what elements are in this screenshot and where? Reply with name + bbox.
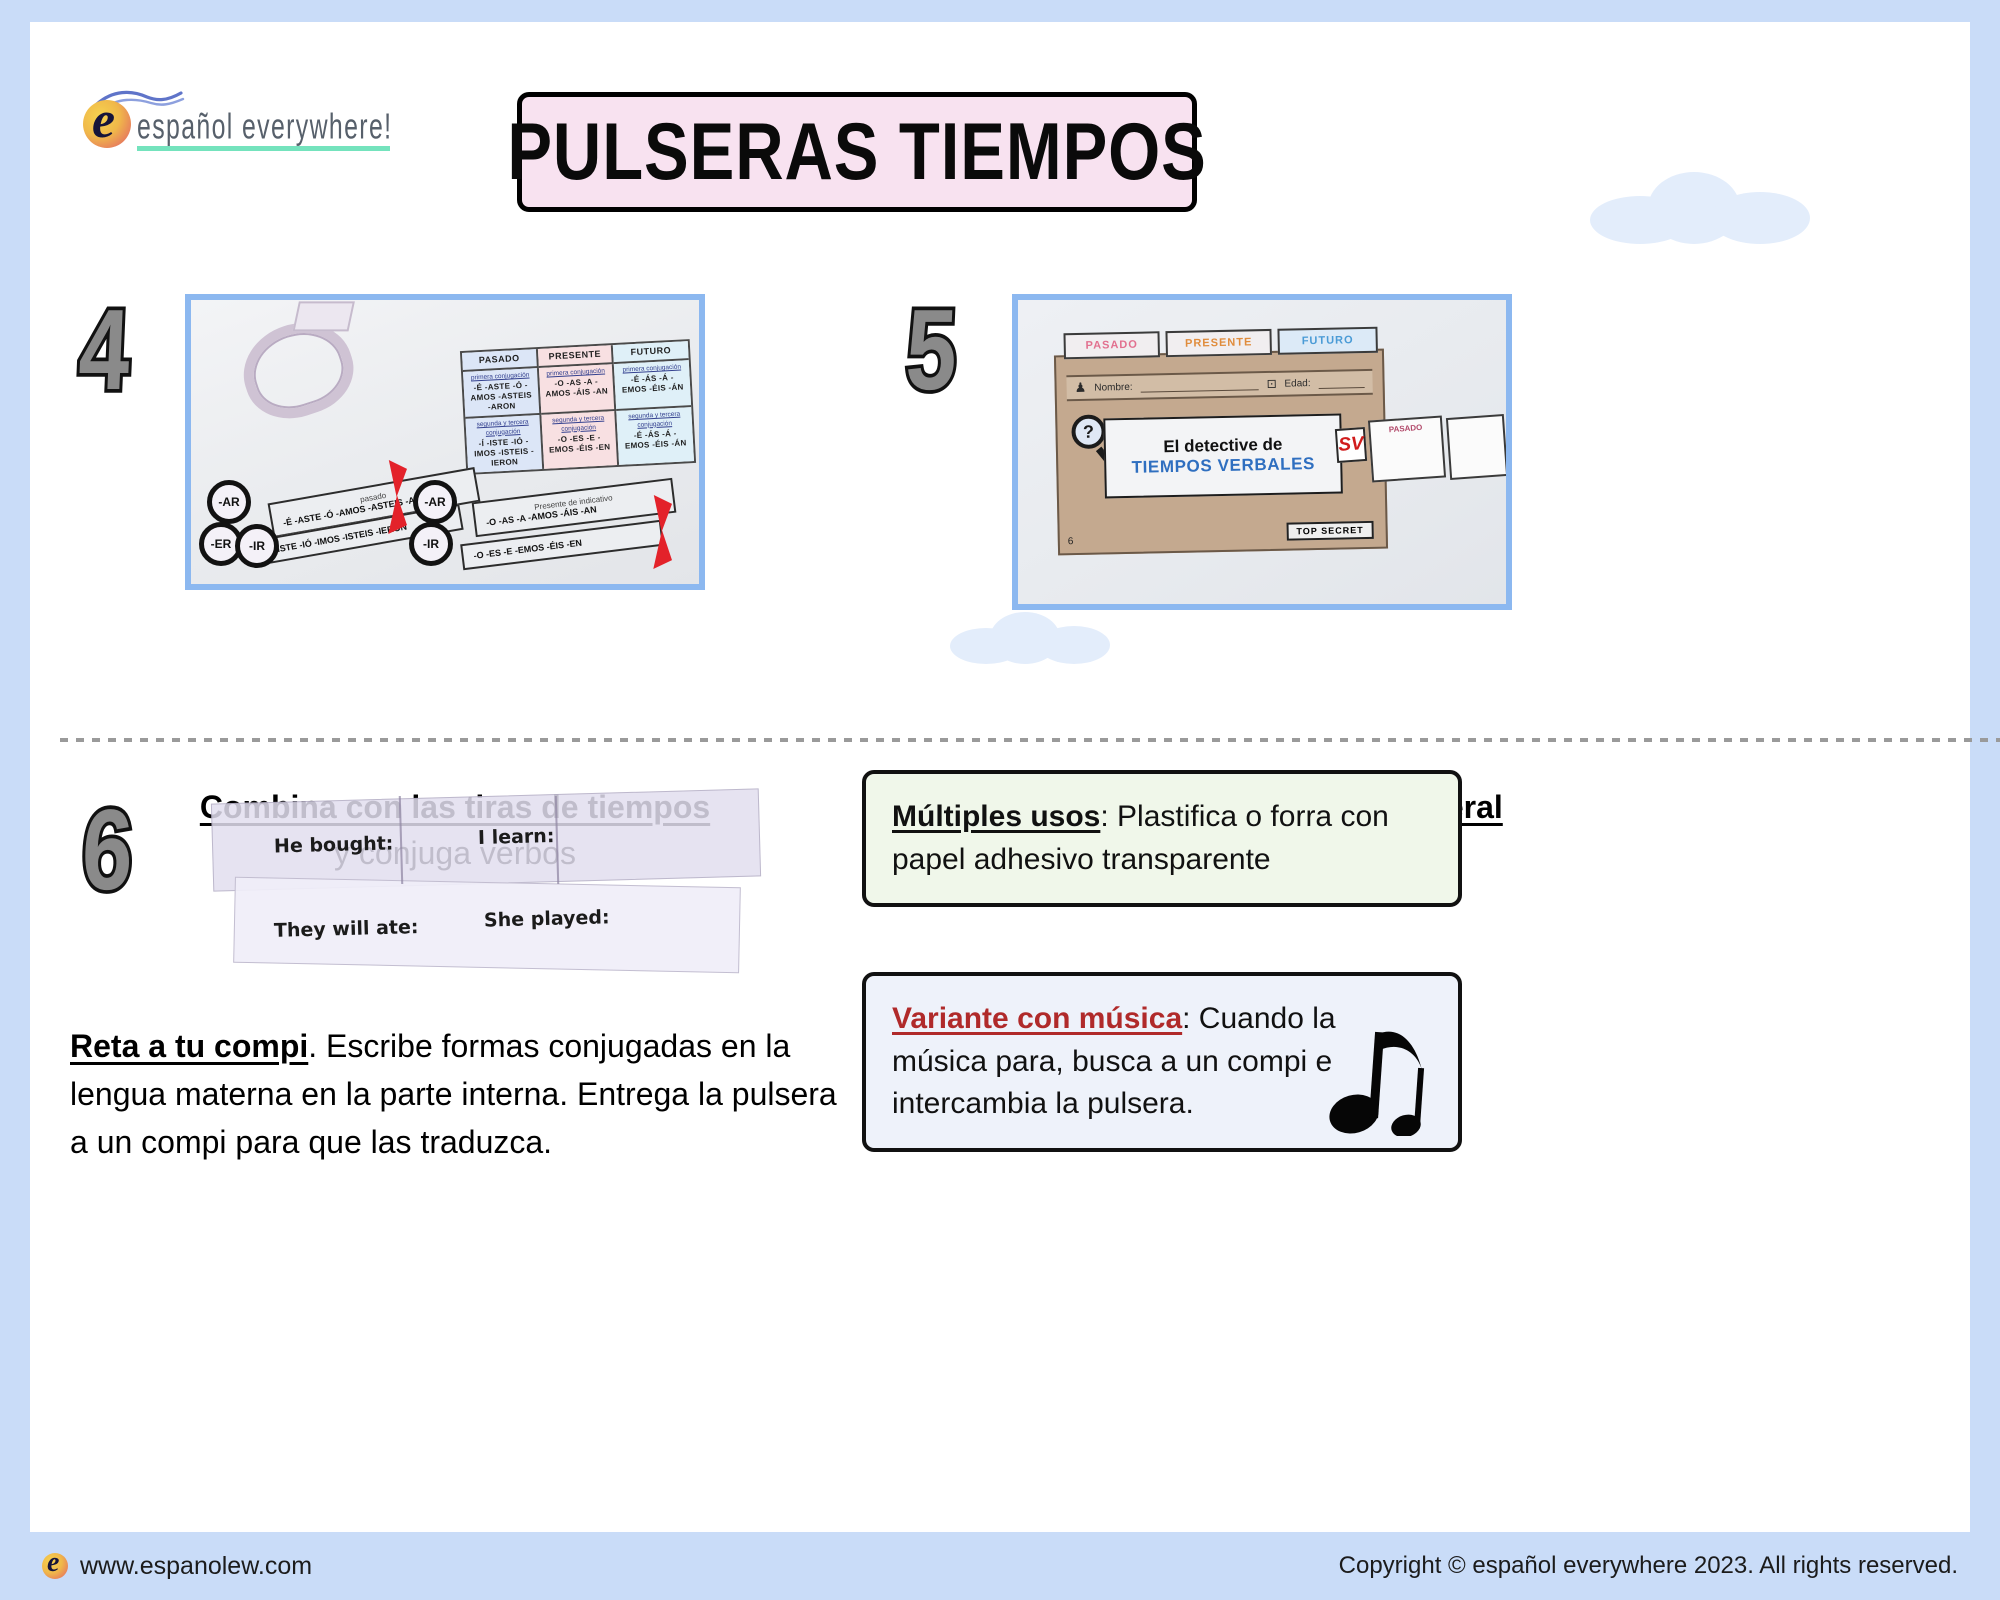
detective-card: El detective de TIEMPOS VERBALES <box>1103 413 1343 498</box>
ending-knob-ar-1: -AR <box>207 480 251 524</box>
chart-cell-pasado-2: -Í -ISTE -IÓ -IMOS -ISTEIS -IERON <box>471 436 538 469</box>
worksheet-page: español everywhere! PULSERAS TIEMPOS 4 <box>0 0 2000 1600</box>
chart-row-label-2a: segunda y tercera conjugación <box>476 419 528 437</box>
callout-variante-musica: Variante con música: Cuando la música pa… <box>862 972 1462 1152</box>
page-title-box: PULSERAS TIEMPOS <box>517 92 1197 212</box>
callout-1-highlight: Múltiples usos <box>892 800 1100 833</box>
step-6-paragraph: Reta a tu compi. Escribe formas conjugad… <box>70 1022 860 1166</box>
ending-knob-ir-2: -IR <box>409 522 453 566</box>
prompt-she-played: She played: <box>484 906 610 931</box>
step-6-paragraph-bold: Reta a tu compi <box>70 1028 308 1064</box>
sv-badge: SV <box>1335 427 1367 463</box>
top-secret-stamp: TOP SECRET <box>1286 521 1374 541</box>
side-strip-extra <box>1446 414 1508 480</box>
cloud-decoration-2 <box>950 612 1110 664</box>
folder-name-row: ♟ Nombre: ⚀ Edad: <box>1066 369 1372 401</box>
chart-cell-presente-1: -O -AS -A -AMOS -ÁIS -AN <box>543 376 610 399</box>
conjugation-chart: PASADO PRESENTE FUTURO primera conjugaci… <box>460 339 696 474</box>
callout-2-highlight: Variante con música <box>892 1002 1182 1035</box>
step-number-6: 6 <box>80 793 135 907</box>
chart-cell-pasado-1: -É -ASTE -Ó -AMOS -ASTEIS -ARON <box>468 380 535 413</box>
step-4-photo: PASADO PRESENTE FUTURO primera conjugaci… <box>185 294 705 590</box>
magnifier-question-icon: ? <box>1071 414 1106 449</box>
step-number-4: 4 <box>77 293 132 407</box>
folder-page-number: 6 <box>1068 536 1074 547</box>
chart-cell-presente-2: -O -ES -E -EMOS -ÉIS -EN <box>546 432 613 455</box>
brand-logo: español everywhere! <box>75 84 405 156</box>
folder-name-label: Nombre: <box>1094 381 1133 393</box>
detective-card-line2: TIEMPOS VERBALES <box>1131 454 1315 478</box>
ending-knob-ar-2: -AR <box>413 480 457 524</box>
prompt-i-learn: I learn: <box>478 825 555 849</box>
cloud-decoration-1 <box>1590 172 1810 242</box>
section-divider <box>60 738 2000 742</box>
chart-row-label-2b: segunda y tercera conjugación <box>552 415 604 433</box>
chart-row-label-2c: segunda y tercera conjugación <box>628 411 680 429</box>
folder-tab-futuro: FUTURO <box>1277 327 1378 355</box>
folder-tab-pasado: PASADO <box>1063 331 1160 359</box>
prompt-they-will-ate: They will ate: <box>274 916 419 942</box>
brand-underline <box>137 146 390 151</box>
footer-brand: www.espanolew.com <box>42 1552 312 1581</box>
step-number-5: 5 <box>904 293 959 407</box>
folder-tab-presente: PRESENTE <box>1165 329 1272 357</box>
brand-name: español everywhere! <box>137 106 392 148</box>
callout-multiples-usos: Múltiples usos: Plastifica o forra con p… <box>862 770 1462 907</box>
chart-cell-futuro-2: -É -ÁS -Á -EMOS -ÉIS -ÁN <box>622 428 690 451</box>
detective-card-line1: El detective de <box>1163 435 1282 457</box>
page-title: PULSERAS TIEMPOS <box>507 106 1206 198</box>
footer-copyright: Copyright © español everywhere 2023. All… <box>1339 1552 1958 1580</box>
folder-age-label: Edad: <box>1284 378 1310 390</box>
chart-cell-futuro-1: -É -ÁS -Á -EMOS -ÉIS -ÁN <box>619 372 687 395</box>
step-6-photo: He bought: I learn: They will ate: She p… <box>212 790 772 980</box>
sheet-canvas: español everywhere! PULSERAS TIEMPOS 4 <box>30 22 1970 1532</box>
footer-url[interactable]: www.espanolew.com <box>80 1552 312 1581</box>
ending-knob-ir-1: -IR <box>235 524 279 568</box>
step-5-photo: PASADO PRESENTE FUTURO ♟ Nombre: ⚀ Edad:… <box>1012 294 1512 610</box>
side-strip-title: PASADO <box>1374 422 1436 435</box>
e-circle-logo-icon <box>83 100 131 148</box>
side-strip-pasado: PASADO <box>1368 415 1446 482</box>
footer-logo-icon <box>42 1553 68 1579</box>
music-note-icon <box>1328 1016 1438 1136</box>
page-footer: www.espanolew.com Copyright © español ev… <box>0 1532 2000 1600</box>
prompt-he-bought: He bought: <box>274 832 394 857</box>
strip-endings-presente-2: -O -ES -E -EMOS -ÉIS -EN <box>473 538 582 561</box>
